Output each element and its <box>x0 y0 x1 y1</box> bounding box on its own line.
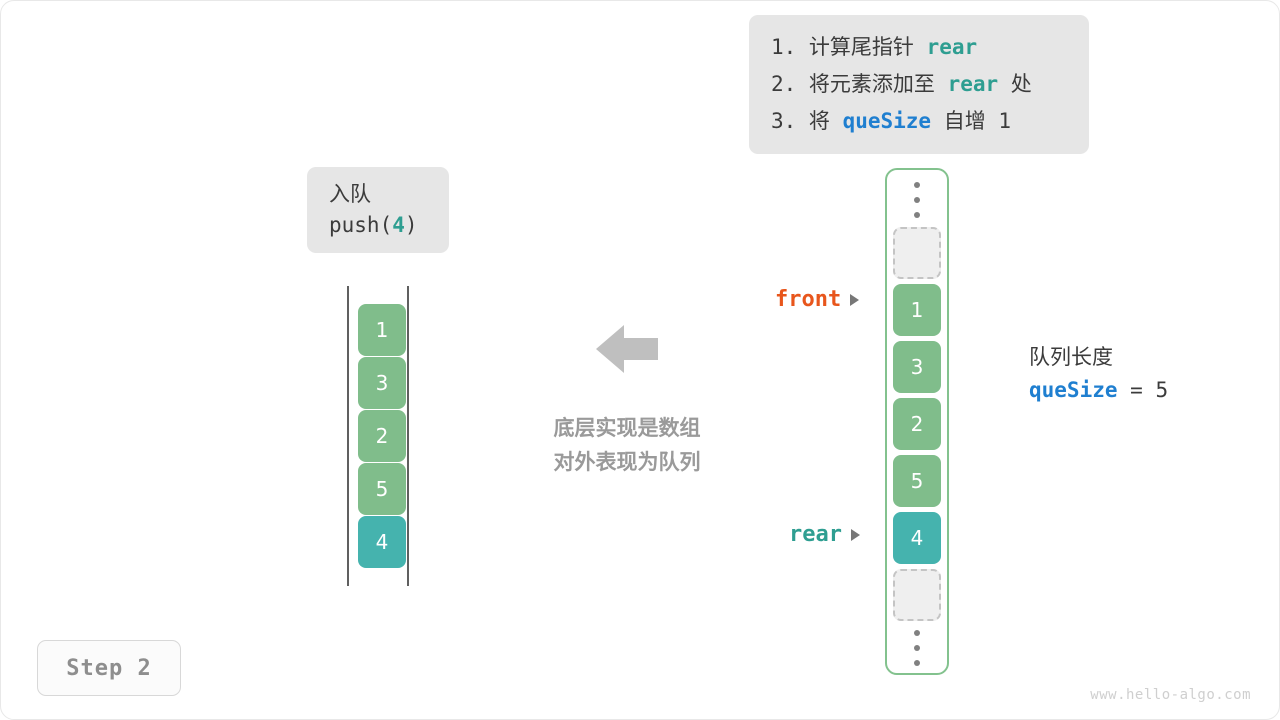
vertical-ellipsis-bottom-icon <box>913 630 921 666</box>
queue-size-value: 5 <box>1155 378 1168 402</box>
steps-note-line-2-keyword: rear <box>948 72 999 96</box>
implementation-caption: 底层实现是数组 对外表现为队列 <box>529 411 725 479</box>
steps-note-line-2: 2. 将元素添加至 rear 处 <box>771 66 1067 103</box>
operation-box: 入队 push(4) <box>307 167 449 253</box>
operation-call: push(4) <box>329 209 449 241</box>
queue-size-variable: queSize <box>1029 378 1118 402</box>
array-cell-empty <box>893 227 941 279</box>
array-cell-empty <box>893 569 941 621</box>
queue-cell: 3 <box>358 357 406 409</box>
steps-note-line-1-prefix: 1. 计算尾指针 <box>771 35 927 59</box>
queue-rail-left <box>347 286 349 586</box>
step-badge: Step 2 <box>37 640 181 696</box>
queue-logical-view: 13254 <box>347 286 409 586</box>
steps-note-line-3-suffix: 自增 1 <box>931 109 1011 133</box>
queue-cell: 5 <box>358 463 406 515</box>
queue-size-equals: = <box>1118 378 1156 402</box>
queue-size-expression: queSize = 5 <box>1029 373 1168 407</box>
steps-note-line-1-keyword: rear <box>927 35 978 59</box>
array-cell: 1 <box>893 284 941 336</box>
implementation-caption-line-2: 对外表现为队列 <box>529 445 725 479</box>
array-cell: 3 <box>893 341 941 393</box>
front-pointer-text: front <box>775 287 841 312</box>
steps-note-box: 1. 计算尾指针 rear 2. 将元素添加至 rear 处 3. 将 queS… <box>749 15 1089 154</box>
steps-note-line-2-suffix: 处 <box>998 72 1032 96</box>
operation-title: 入队 <box>329 179 449 209</box>
rear-pointer-text: rear <box>789 522 842 547</box>
queue-cell: 1 <box>358 304 406 356</box>
vertical-ellipsis-top-icon <box>913 182 921 218</box>
array-cell: 4 <box>893 512 941 564</box>
rear-pointer-label: rear <box>789 522 860 547</box>
array-cell: 2 <box>893 398 941 450</box>
array-cell: 5 <box>893 455 941 507</box>
operation-call-argument: 4 <box>392 213 405 237</box>
watermark-text: www.hello-algo.com <box>1090 687 1251 703</box>
array-physical-view: 13254 <box>885 168 949 675</box>
steps-note-line-3-keyword: queSize <box>843 109 932 133</box>
queue-size-title: 队列长度 <box>1029 341 1168 373</box>
steps-note-line-2-prefix: 2. 将元素添加至 <box>771 72 948 96</box>
steps-note-line-1: 1. 计算尾指针 rear <box>771 29 1067 66</box>
queue-size-readout: 队列长度 queSize = 5 <box>1029 341 1168 407</box>
front-pointer-caret-icon <box>850 294 859 306</box>
front-pointer-label: front <box>775 287 859 312</box>
rear-pointer-caret-icon <box>851 529 860 541</box>
implementation-caption-line-1: 底层实现是数组 <box>529 411 725 445</box>
illustration-canvas: 1. 计算尾指针 rear 2. 将元素添加至 rear 处 3. 将 queS… <box>0 0 1280 720</box>
queue-rail-right <box>407 286 409 586</box>
operation-call-suffix: ) <box>405 213 418 237</box>
steps-note-line-3: 3. 将 queSize 自增 1 <box>771 103 1067 140</box>
queue-cell: 2 <box>358 410 406 462</box>
step-badge-label: Step 2 <box>66 656 151 681</box>
queue-cell-list: 13254 <box>358 304 406 568</box>
queue-cell: 4 <box>358 516 406 568</box>
steps-note-line-3-prefix: 3. 将 <box>771 109 843 133</box>
watermark: www.hello-algo.com <box>1090 687 1251 703</box>
operation-call-prefix: push( <box>329 213 392 237</box>
array-cell-list: 13254 <box>893 227 941 621</box>
left-arrow-icon <box>596 323 658 375</box>
